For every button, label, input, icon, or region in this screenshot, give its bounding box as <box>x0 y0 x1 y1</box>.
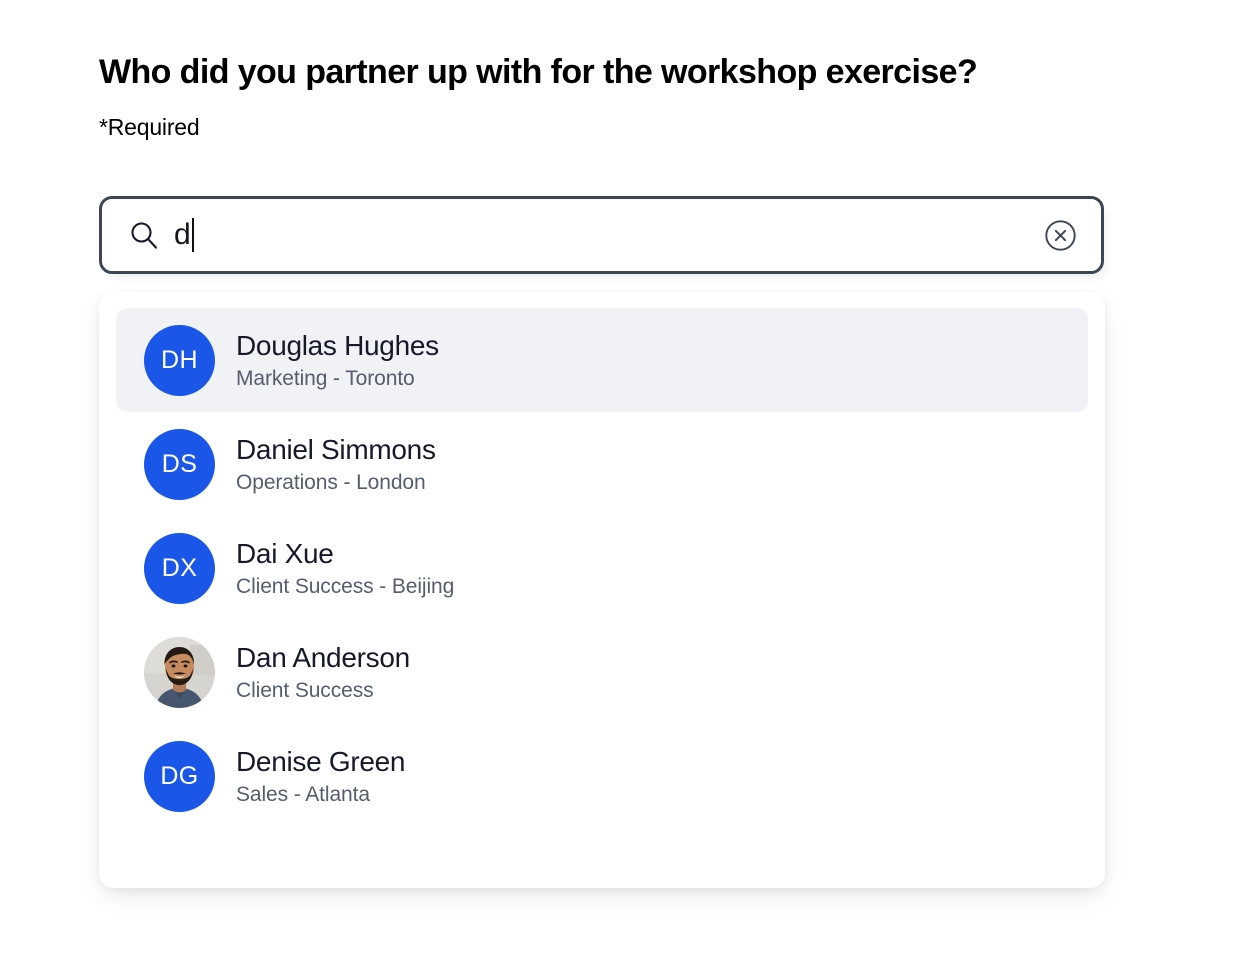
avatar-initials: DS <box>162 452 198 477</box>
search-icon <box>129 220 159 250</box>
person-name: Douglas Hughes <box>236 329 439 363</box>
list-item[interactable]: DX Dai Xue Client Success - Beijing <box>116 516 1088 620</box>
list-item[interactable]: DG Denise Green Sales - Atlanta <box>116 724 1088 828</box>
person-name: Denise Green <box>236 745 405 779</box>
person-meta: Sales - Atlanta <box>236 782 405 808</box>
avatar: DH <box>144 325 215 396</box>
avatar-initials: DG <box>160 764 198 789</box>
person-meta: Marketing - Toronto <box>236 366 439 392</box>
required-note: *Required <box>99 112 200 142</box>
avatar: DG <box>144 741 215 812</box>
list-item-text: Dan Anderson Client Success <box>236 641 410 704</box>
avatar: DS <box>144 429 215 500</box>
person-name: Daniel Simmons <box>236 433 436 467</box>
list-item[interactable]: DH Douglas Hughes Marketing - Toronto <box>116 308 1088 412</box>
list-item-text: Daniel Simmons Operations - London <box>236 433 436 496</box>
search-results-panel: DH Douglas Hughes Marketing - Toronto DS… <box>99 292 1105 888</box>
text-caret <box>192 218 194 252</box>
search-field[interactable]: d <box>99 196 1104 274</box>
person-meta: Client Success <box>236 678 410 704</box>
person-meta: Operations - London <box>236 470 436 496</box>
avatar: DX <box>144 533 215 604</box>
list-item-text: Dai Xue Client Success - Beijing <box>236 537 454 600</box>
search-input[interactable]: d <box>174 199 1044 271</box>
list-item-text: Denise Green Sales - Atlanta <box>236 745 405 808</box>
list-item[interactable]: DS Daniel Simmons Operations - London <box>116 412 1088 516</box>
list-item[interactable]: Dan Anderson Client Success <box>116 620 1088 724</box>
page-title: Who did you partner up with for the work… <box>99 50 1159 94</box>
person-name: Dan Anderson <box>236 641 410 675</box>
list-item-text: Douglas Hughes Marketing - Toronto <box>236 329 439 392</box>
avatar-initials: DH <box>161 348 198 373</box>
person-name: Dai Xue <box>236 537 454 571</box>
avatar-initials: DX <box>162 556 198 581</box>
clear-search-button[interactable] <box>1044 219 1077 252</box>
search-input-value: d <box>174 218 191 252</box>
person-meta: Client Success - Beijing <box>236 574 454 600</box>
avatar-photo <box>144 637 215 708</box>
survey-question-page: Who did you partner up with for the work… <box>0 0 1240 958</box>
